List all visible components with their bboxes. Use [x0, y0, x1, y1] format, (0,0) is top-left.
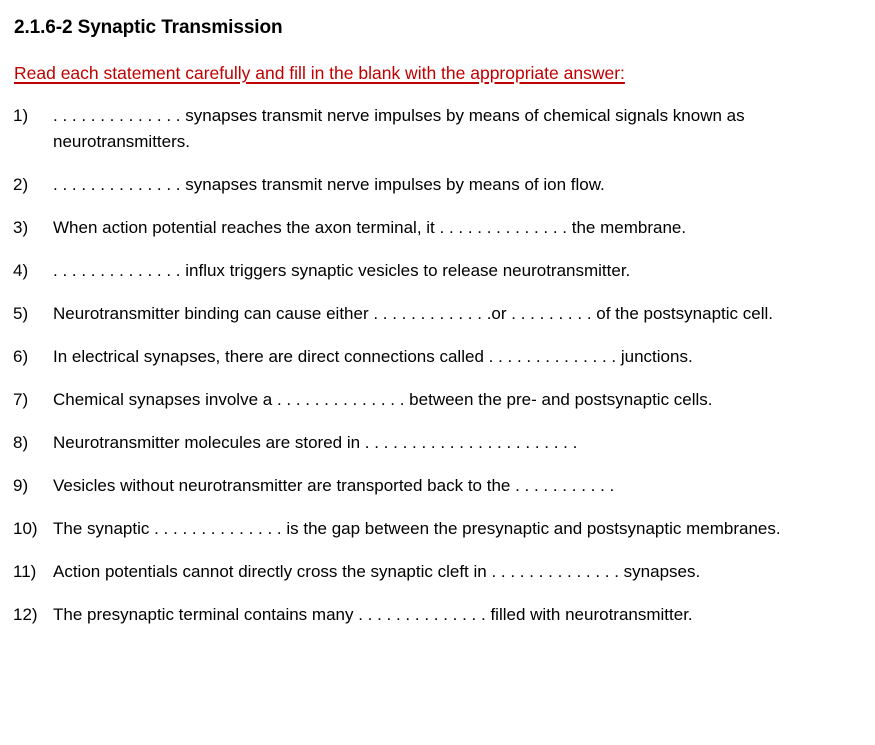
question-number: 11) [13, 559, 53, 585]
instruction-text: Read each statement carefully and fill i… [14, 61, 625, 85]
question-number: 3) [13, 215, 53, 241]
question-item-4: 4) . . . . . . . . . . . . . . influx tr… [13, 258, 861, 284]
question-item-12: 12) The presynaptic terminal contains ma… [13, 602, 861, 628]
question-item-8: 8) Neurotransmitter molecules are stored… [13, 430, 861, 456]
question-text: Neurotransmitter binding can cause eithe… [53, 301, 853, 327]
question-text: The synaptic . . . . . . . . . . . . . .… [53, 516, 853, 542]
question-item-5: 5) Neurotransmitter binding can cause ei… [13, 301, 861, 327]
question-item-2: 2) . . . . . . . . . . . . . . synapses … [13, 172, 861, 198]
question-number: 8) [13, 430, 53, 456]
question-item-10: 10) The synaptic . . . . . . . . . . . .… [13, 516, 861, 542]
question-text: Action potentials cannot directly cross … [53, 559, 853, 585]
question-item-6: 6) In electrical synapses, there are dir… [13, 344, 861, 370]
question-text: . . . . . . . . . . . . . . synapses tra… [53, 172, 853, 198]
question-item-7: 7) Chemical synapses involve a . . . . .… [13, 387, 861, 413]
question-number: 4) [13, 258, 53, 284]
question-list: 1) . . . . . . . . . . . . . . synapses … [13, 103, 861, 627]
question-item-1: 1) . . . . . . . . . . . . . . synapses … [13, 103, 861, 154]
question-number: 12) [13, 602, 53, 628]
question-text: . . . . . . . . . . . . . . influx trigg… [53, 258, 853, 284]
question-item-11: 11) Action potentials cannot directly cr… [13, 559, 861, 585]
worksheet-page: 2.1.6-2 Synaptic Transmission Read each … [0, 0, 875, 745]
question-text: . . . . . . . . . . . . . . synapses tra… [53, 103, 853, 154]
question-text: The presynaptic terminal contains many .… [53, 602, 853, 628]
question-item-3: 3) When action potential reaches the axo… [13, 215, 861, 241]
question-text: Vesicles without neurotransmitter are tr… [53, 473, 853, 499]
question-number: 7) [13, 387, 53, 413]
question-item-9: 9) Vesicles without neurotransmitter are… [13, 473, 861, 499]
question-number: 10) [13, 516, 53, 542]
question-number: 9) [13, 473, 53, 499]
question-text: Neurotransmitter molecules are stored in… [53, 430, 853, 456]
question-text: In electrical synapses, there are direct… [53, 344, 853, 370]
question-number: 2) [13, 172, 53, 198]
question-number: 5) [13, 301, 53, 327]
question-number: 1) [13, 103, 53, 129]
question-text: When action potential reaches the axon t… [53, 215, 853, 241]
page-title: 2.1.6-2 Synaptic Transmission [14, 16, 861, 40]
question-text: Chemical synapses involve a . . . . . . … [53, 387, 853, 413]
question-number: 6) [13, 344, 53, 370]
instruction-line-wrapper: Read each statement carefully and fill i… [13, 40, 861, 85]
